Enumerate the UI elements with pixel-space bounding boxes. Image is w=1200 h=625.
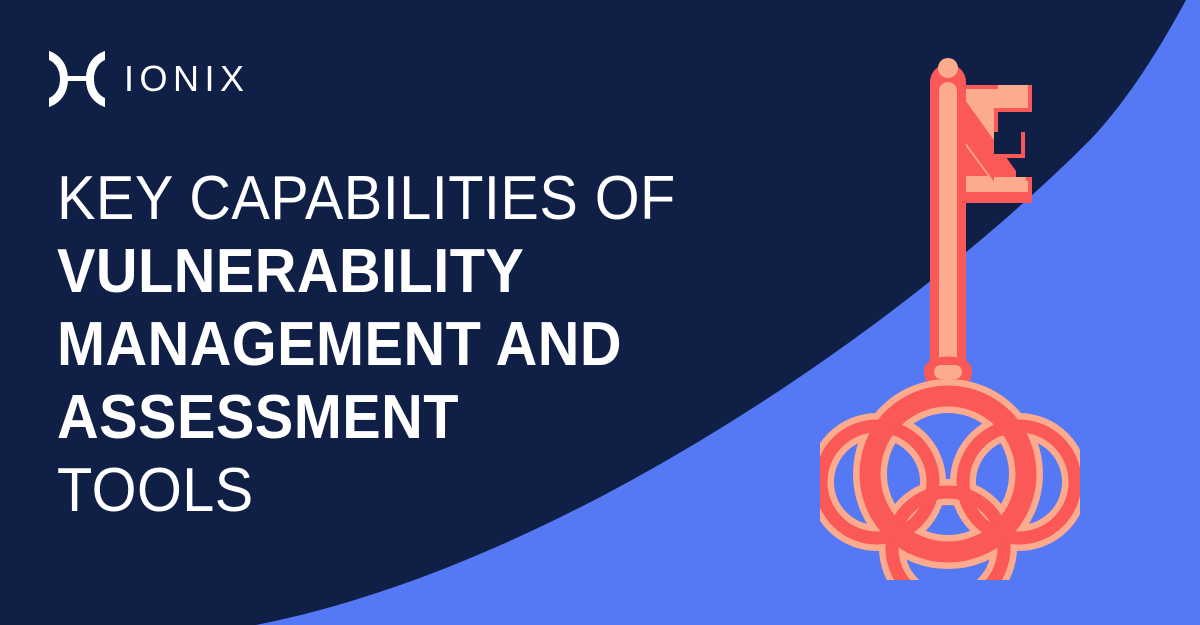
key-collar-inner-bar — [934, 365, 962, 379]
key-head-dot — [938, 58, 958, 78]
key-bow-ring-center-inner — [870, 396, 1026, 552]
headline-line-3: MANAGEMENT AND — [57, 308, 676, 381]
headline-block: KEY CAPABILITIES OF VULNERABILITY MANAGE… — [57, 162, 722, 527]
key-tooth-lower — [994, 177, 1026, 190]
key-illustration — [820, 40, 1080, 580]
headline-line-4: ASSESSMENT — [57, 381, 676, 454]
logo[interactable]: IONIX — [46, 50, 250, 108]
key-icon — [820, 40, 1080, 580]
ionix-logo-icon — [46, 50, 108, 108]
key-notch-upper — [994, 132, 1021, 154]
key-tooth-top — [998, 85, 1028, 108]
logo-wordmark: IONIX — [124, 61, 250, 97]
headline-line-2: VULNERABILITY — [57, 235, 676, 308]
headline-line-1: KEY CAPABILITIES OF — [57, 162, 676, 235]
key-shaft-inner — [939, 82, 957, 388]
banner-canvas: IONIX KEY CAPABILITIES OF VULNERABILITY … — [0, 0, 1200, 625]
headline-line-5: TOOLS — [57, 454, 676, 527]
